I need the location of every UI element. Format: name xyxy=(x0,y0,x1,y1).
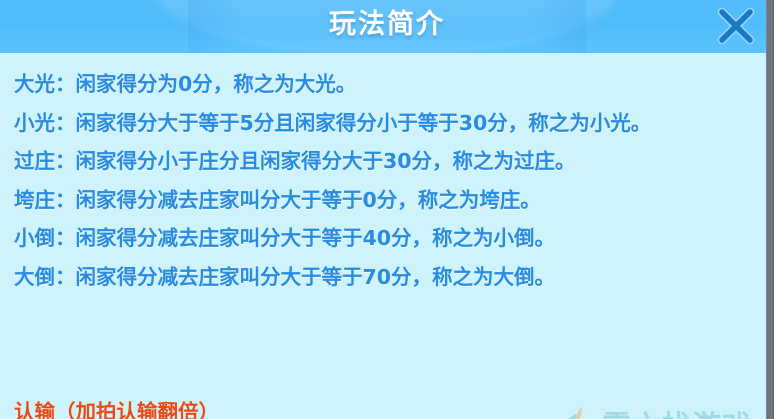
surrender-section: 认输（加拍认输翻倍） 开局认输： xyxy=(14,393,514,419)
rules-list: 大光：闲家得分为0分，称之为大光。 小光：闲家得分大于等于5分且闲家得分小于等于… xyxy=(14,65,754,296)
rule-line: 大光：闲家得分为0分，称之为大光。 xyxy=(14,65,754,104)
rule-line: 过庄：闲家得分小于庄分且闲家得分大于30分，称之为过庄。 xyxy=(14,142,754,181)
dialog-body: 大光：闲家得分为0分，称之为大光。 小光：闲家得分大于等于5分且闲家得分小于等于… xyxy=(0,53,774,419)
section-heading: 认输（加拍认输翻倍） xyxy=(14,393,514,419)
dialog-header: 玩法简介 xyxy=(0,0,774,53)
watermark-brand: 零六找游戏 xyxy=(602,403,752,419)
scrollbar-track[interactable] xyxy=(766,0,774,419)
game-rules-dialog: 玩法简介 大光：闲家得分为0分，称之为大光。 小光：闲家得分大于等于5分且闲家得… xyxy=(0,0,774,419)
watermark: 零六找游戏 www.lingliuyx.com www.06zyx.com xyxy=(556,401,770,419)
rule-line: 小倒：闲家得分减去庄家叫分大于等于40分，称之为小倒。 xyxy=(14,219,754,258)
close-button[interactable] xyxy=(714,5,758,47)
rule-line: 小光：闲家得分大于等于5分且闲家得分小于等于30分，称之为小光。 xyxy=(14,104,754,143)
flame-swirl-logo-icon xyxy=(556,403,598,419)
rule-line: 大倒：闲家得分减去庄家叫分大于等于70分，称之为大倒。 xyxy=(14,258,754,297)
close-x-icon xyxy=(714,5,758,47)
page-title: 玩法简介 xyxy=(0,0,774,53)
rule-line: 垮庄：闲家得分减去庄家叫分大于等于0分，称之为垮庄。 xyxy=(14,181,754,220)
scrollbar-thumb[interactable] xyxy=(767,0,773,419)
watermark-brand-row: 零六找游戏 xyxy=(556,401,770,419)
